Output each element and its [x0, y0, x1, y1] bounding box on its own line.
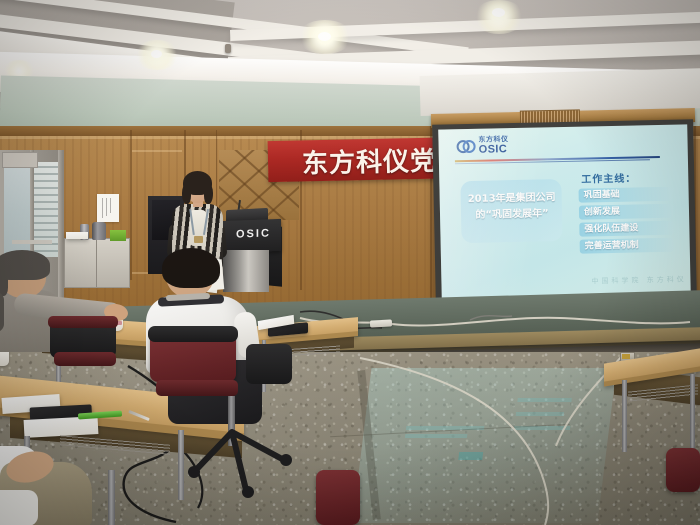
podium-column [223, 250, 269, 292]
wall-ac-unit [2, 152, 38, 168]
ceiling-downlight-core [151, 50, 162, 58]
panel-highlight [132, 150, 182, 152]
projection-screen: 东方科仪 OSIC 2013年是集团公司的“巩固发展年” 工作主线： 巩固基础 … [438, 124, 691, 299]
table-leg [622, 380, 627, 452]
speaker-badge [194, 236, 203, 243]
projection-screen-frame: 东方科仪 OSIC 2013年是集团公司的“巩固发展年” 工作主线： 巩固基础 … [432, 119, 697, 304]
slide-bullet: 完善运营机制 [580, 238, 674, 254]
podium-label: OSIC [236, 227, 271, 240]
osic-logo-icon [456, 140, 475, 153]
slide-bullet: 创新发展 [579, 204, 673, 220]
power-strip[interactable] [370, 319, 392, 327]
slide-bullet-list: 巩固基础 创新发展 强化队伍建设 完善运营机制 [579, 187, 674, 257]
attendee-hair [162, 248, 220, 288]
table-leg [178, 430, 184, 500]
green-box [110, 230, 126, 241]
speaker-hair [182, 184, 191, 204]
chair-back[interactable] [666, 448, 700, 492]
electric-kettle [92, 222, 106, 240]
sprinkler-head [225, 44, 231, 53]
chair-castor [242, 486, 254, 498]
chair-headrest [148, 326, 238, 342]
chair-seat [156, 380, 238, 396]
conference-room-photo: 东方科仪党的 东方科仪 OSIC 2013年是集团公司的“巩固发展年” 工 [0, 0, 700, 525]
panel-seam [130, 130, 132, 280]
paper-stack [66, 232, 88, 239]
slide-headline: 2013年是集团公司的“巩固发展年” [468, 190, 557, 224]
attendee-sleeve [0, 490, 38, 525]
slide-headline-box: 2013年是集团公司的“巩固发展年” [460, 179, 562, 243]
speaker-hair [204, 184, 213, 204]
ceiling-downlight [473, 0, 525, 34]
ceiling-downlight-core [318, 32, 331, 41]
chair-castor [280, 454, 292, 466]
slide-bullet: 巩固基础 [579, 187, 673, 203]
slide-logo-en: OSIC [479, 144, 509, 156]
slide-section-title: 工作主线： [581, 169, 636, 185]
chair-seat [54, 352, 116, 366]
storage-cabinet[interactable] [64, 238, 130, 288]
attendee-strap [0, 292, 4, 332]
door-mullion [58, 150, 63, 300]
ceiling-downlight-core [492, 8, 505, 17]
door-handle-bar[interactable] [12, 240, 52, 244]
slide-logo: 东方科仪 OSIC [456, 136, 508, 156]
chair-back[interactable] [246, 344, 292, 384]
slide-bullet: 强化队伍建设 [579, 221, 673, 237]
table-leg [108, 470, 115, 525]
slide-watermark: 中国科学院 东方科仪 [591, 274, 686, 286]
chair-castor [188, 466, 200, 478]
attendee-hair [0, 268, 8, 296]
floor-socket-indicator [622, 354, 630, 359]
chair-headrest [48, 316, 118, 328]
wall-notice [97, 194, 119, 222]
table-leg [690, 374, 695, 452]
chair-back[interactable] [316, 470, 360, 525]
